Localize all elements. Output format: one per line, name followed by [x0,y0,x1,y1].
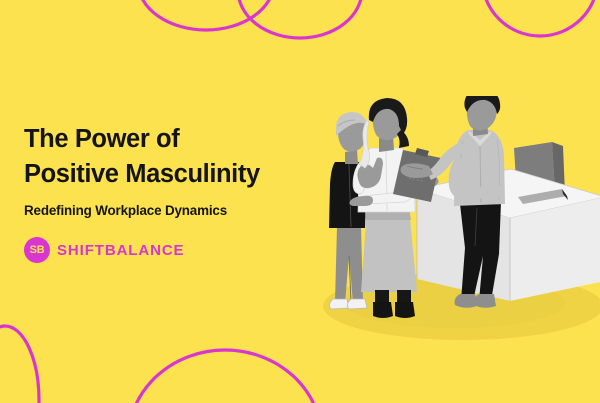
brand-monogram: SB [30,245,45,256]
page-subtitle: Redefining Workplace Dynamics [24,203,324,219]
brand-logo-icon: SB [24,237,50,263]
ring-top-center-icon [238,0,362,38]
ring-top-left-icon [138,0,274,30]
brand-lockup: SB SHIFTBALANCE [24,237,324,263]
brand-wordmark: SHIFTBALANCE [57,243,184,258]
ring-bottom-center-icon [128,350,322,403]
promo-banner: The Power of Positive Masculinity Redefi… [0,0,600,403]
desk [417,169,600,301]
ring-bottom-left-icon [0,326,39,403]
workplace-conversation-illustration [305,96,600,346]
page-title: The Power of Positive Masculinity [24,122,324,192]
headline-block: The Power of Positive Masculinity Redefi… [24,122,324,263]
ring-top-right-icon [482,0,598,36]
